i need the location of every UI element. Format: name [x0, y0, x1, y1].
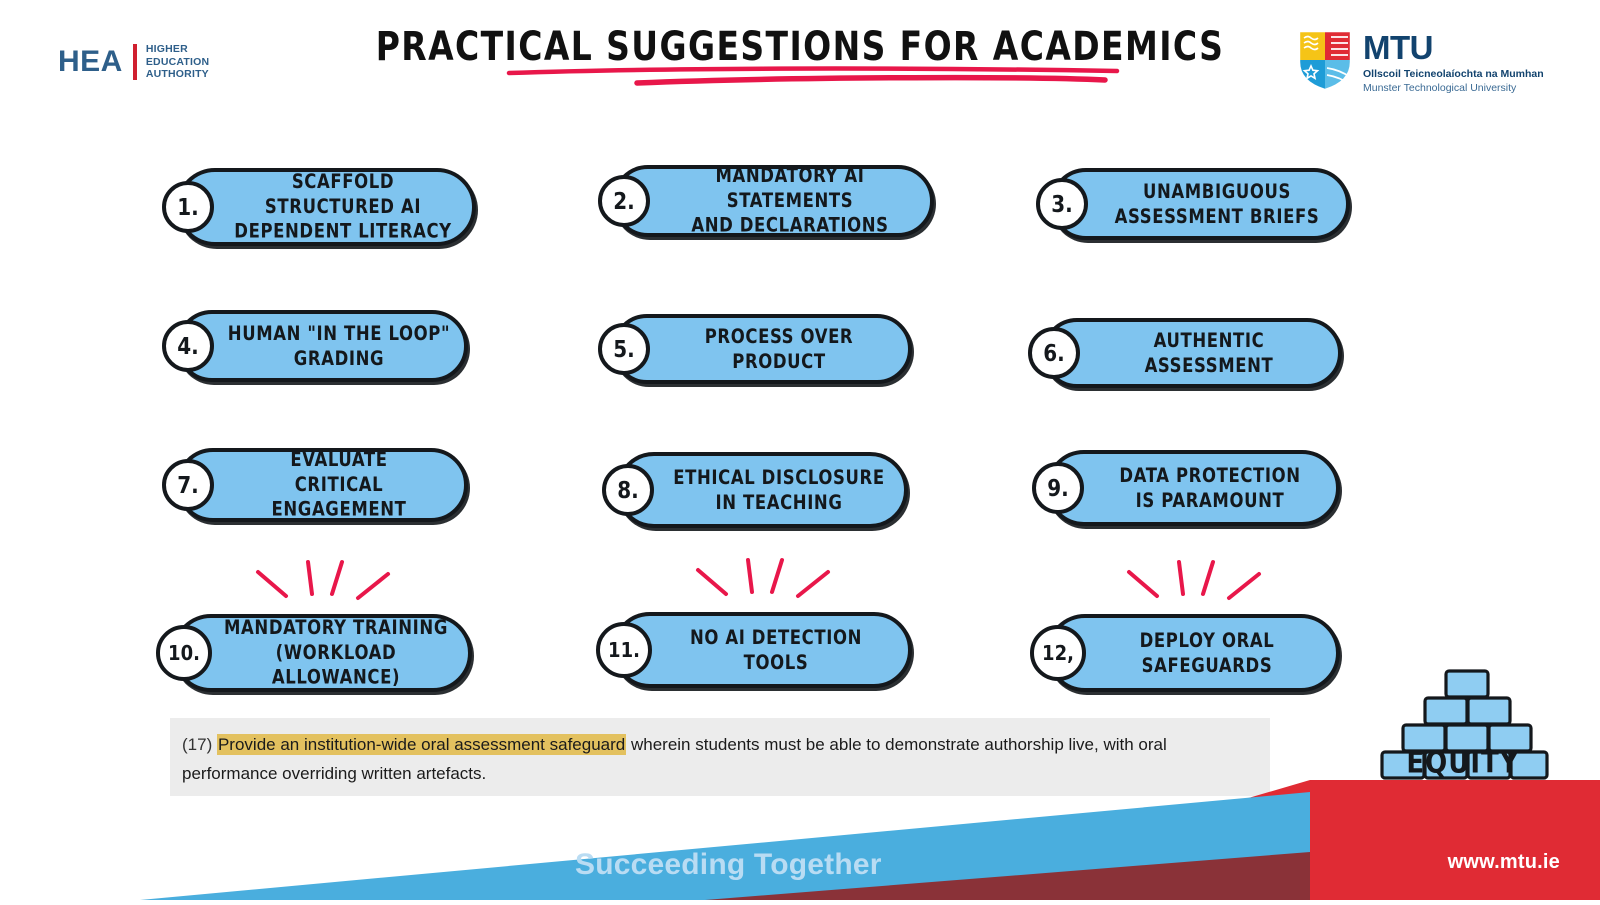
- footer-tagline: Succeeding Together: [575, 848, 882, 882]
- suggestion-card-8[interactable]: 8.ETHICAL DISCLOSURE IN TEACHING: [616, 452, 908, 528]
- suggestion-card-11[interactable]: 11.NO AI DETECTION TOOLS: [612, 612, 912, 688]
- suggestion-number-badge: 8.: [602, 464, 654, 516]
- suggestion-pill[interactable]: 12,DEPLOY ORAL SAFEGUARDS: [1046, 614, 1340, 692]
- suggestion-pill[interactable]: 10.MANDATORY TRAINING (WORKLOAD ALLOWANC…: [172, 614, 472, 692]
- suggestion-number-badge: 3.: [1036, 178, 1088, 230]
- suggestion-pill[interactable]: 6.AUTHENTIC ASSESSMENT: [1042, 318, 1342, 388]
- emphasis-sparkle: [1113, 554, 1273, 610]
- suggestion-label: MANDATORY AI STATEMENTS AND DECLARATIONS: [616, 164, 930, 239]
- suggestion-pill[interactable]: 3.UNAMBIGUOUS ASSESSMENT BRIEFS: [1050, 168, 1350, 240]
- suggestion-number: 10.: [168, 641, 200, 665]
- emphasis-sparkle-icon: [242, 554, 402, 610]
- equity-label: EQUITY: [1368, 748, 1558, 778]
- suggestion-pill[interactable]: 7.EVALUATE CRITICAL ENGAGEMENT: [176, 448, 468, 522]
- suggestion-card-10[interactable]: 10.MANDATORY TRAINING (WORKLOAD ALLOWANC…: [172, 614, 472, 692]
- suggestion-pill[interactable]: 4.HUMAN "IN THE LOOP" GRADING: [176, 310, 468, 382]
- suggestion-label: AUTHENTIC ASSESSMENT: [1046, 328, 1338, 378]
- suggestion-number-badge: 12,: [1030, 625, 1086, 681]
- emphasis-sparkle-icon: [682, 552, 842, 608]
- suggestion-card-3[interactable]: 3.UNAMBIGUOUS ASSESSMENT BRIEFS: [1050, 168, 1350, 240]
- suggestion-number-badge: 11.: [596, 622, 652, 678]
- suggestion-number: 7.: [177, 471, 199, 499]
- suggestion-number: 8.: [617, 476, 639, 504]
- quote-number: (17): [182, 735, 212, 754]
- suggestion-number-badge: 1.: [162, 181, 214, 233]
- suggestion-number: 2.: [613, 187, 635, 215]
- suggestion-pill[interactable]: 1.SCAFFOLD STRUCTURED AI DEPENDENT LITER…: [176, 168, 476, 246]
- suggestion-pill[interactable]: 8.ETHICAL DISCLOSURE IN TEACHING: [616, 452, 908, 528]
- suggestion-label: DATA PROTECTION IS PARAMOUNT: [1073, 463, 1312, 513]
- suggestion-card-6[interactable]: 6.AUTHENTIC ASSESSMENT: [1042, 318, 1342, 388]
- suggestion-label: EVALUATE CRITICAL ENGAGEMENT: [180, 448, 464, 523]
- suggestion-card-9[interactable]: 9.DATA PROTECTION IS PARAMOUNT: [1046, 450, 1340, 526]
- suggestion-pill[interactable]: 5.PROCESS OVER PRODUCT: [612, 314, 912, 384]
- quote-highlight: Provide an institution-wide oral assessm…: [217, 734, 626, 755]
- suggestion-label: NO AI DETECTION TOOLS: [616, 625, 908, 675]
- suggestion-card-5[interactable]: 5.PROCESS OVER PRODUCT: [612, 314, 912, 384]
- suggestion-number-badge: 10.: [156, 625, 212, 681]
- suggestion-number-badge: 2.: [598, 175, 650, 227]
- suggestion-number: 5.: [613, 335, 635, 363]
- suggestion-label: UNAMBIGUOUS ASSESSMENT BRIEFS: [1069, 179, 1332, 229]
- suggestion-number-badge: 5.: [598, 323, 650, 375]
- slide-footer: Succeeding Together www.mtu.ie: [0, 780, 1600, 900]
- suggestion-label: DEPLOY ORAL SAFEGUARDS: [1100, 628, 1287, 678]
- suggestion-number-badge: 7.: [162, 459, 214, 511]
- suggestion-number: 4.: [177, 332, 199, 360]
- suggestion-number-badge: 9.: [1032, 462, 1084, 514]
- suggestion-card-2[interactable]: 2.MANDATORY AI STATEMENTS AND DECLARATIO…: [612, 165, 934, 237]
- suggestion-pill[interactable]: 2.MANDATORY AI STATEMENTS AND DECLARATIO…: [612, 165, 934, 237]
- suggestion-label: ETHICAL DISCLOSURE IN TEACHING: [627, 465, 896, 515]
- suggestion-pill[interactable]: 11.NO AI DETECTION TOOLS: [612, 612, 912, 688]
- suggestion-number: 6.: [1043, 339, 1065, 367]
- footer-url[interactable]: www.mtu.ie: [1448, 851, 1560, 874]
- suggestion-card-4[interactable]: 4.HUMAN "IN THE LOOP" GRADING: [176, 310, 468, 382]
- suggestion-number: 9.: [1047, 474, 1069, 502]
- suggestion-card-12[interactable]: 12,DEPLOY ORAL SAFEGUARDS: [1046, 614, 1340, 692]
- suggestion-number: 11.: [608, 638, 640, 662]
- suggestion-number-badge: 4.: [162, 320, 214, 372]
- suggestion-label: MANDATORY TRAINING (WORKLOAD ALLOWANCE): [176, 616, 468, 691]
- suggestion-label: HUMAN "IN THE LOOP" GRADING: [182, 321, 462, 371]
- suggestion-number: 3.: [1051, 190, 1073, 218]
- suggestion-number: 12,: [1042, 641, 1074, 665]
- suggestion-number-badge: 6.: [1028, 327, 1080, 379]
- footer-shapes: [0, 780, 1600, 900]
- suggestion-label: SCAFFOLD STRUCTURED AI DEPENDENT LITERAC…: [180, 170, 472, 245]
- emphasis-sparkle: [242, 554, 402, 610]
- emphasis-sparkle-icon: [1113, 554, 1273, 610]
- suggestion-card-7[interactable]: 7.EVALUATE CRITICAL ENGAGEMENT: [176, 448, 468, 522]
- emphasis-sparkle: [682, 552, 842, 608]
- suggestion-card-1[interactable]: 1.SCAFFOLD STRUCTURED AI DEPENDENT LITER…: [176, 168, 476, 246]
- suggestion-pill[interactable]: 9.DATA PROTECTION IS PARAMOUNT: [1046, 450, 1340, 526]
- suggestion-number: 1.: [177, 193, 199, 221]
- suggestion-label: PROCESS OVER PRODUCT: [616, 324, 908, 374]
